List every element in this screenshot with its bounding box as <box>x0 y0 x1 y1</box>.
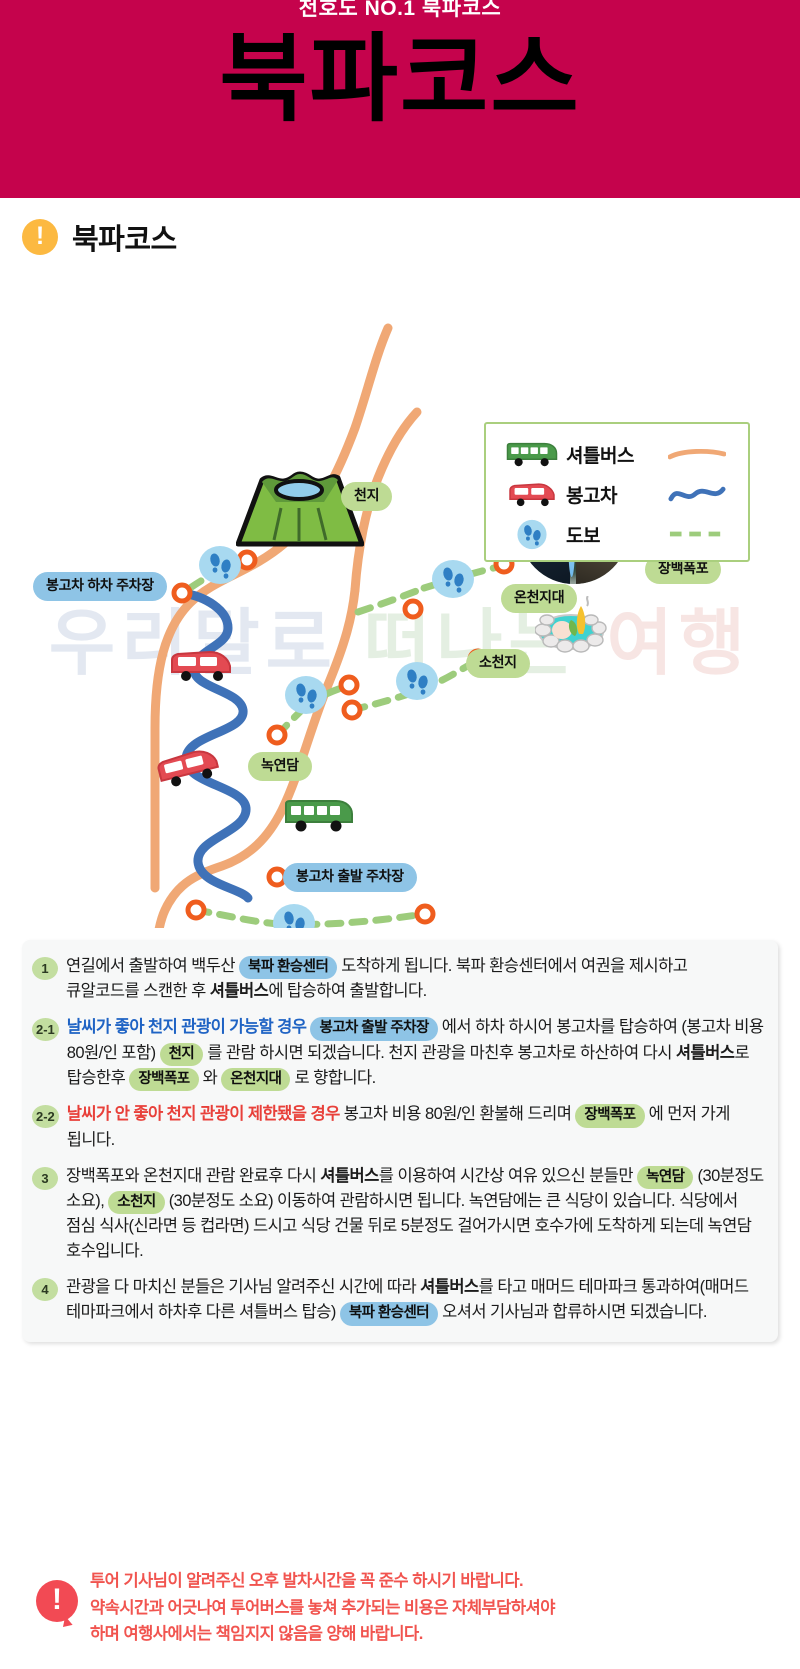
legend-label-van: 봉고차 <box>566 481 658 508</box>
walk-path-jihasamrim <box>196 910 280 924</box>
inline-emphasis: 셔틀버스 <box>676 1044 735 1062</box>
inline-tag: 소천지 <box>108 1191 164 1214</box>
step-text: 관광을 다 마치신 분들은 기사님 알려주신 시간에 따라 셔틀버스를 타고 매… <box>66 1275 764 1325</box>
step-text: 날씨가 좋아 천지 관광이 가능할 경우 봉고차 출발 주차장 에서 하차 하시… <box>67 1015 764 1091</box>
inline-emphasis: 셔틀버스 <box>210 982 269 1000</box>
exclamation-icon: ! <box>22 219 58 255</box>
inline-tag: 장백폭포 <box>575 1104 644 1127</box>
map-legend: 셔틀버스 봉고차 <box>484 422 750 562</box>
map-label-nokyeondam[interactable]: 녹연담 <box>248 752 312 781</box>
map-label-oncheon[interactable]: 온천지대 <box>501 584 577 613</box>
legend-label-shuttle: 셔틀버스 <box>566 441 658 468</box>
inline-tag: 천지 <box>160 1043 204 1066</box>
inline-emphasis: 날씨가 좋아 천지 관광이 가능할 경우 <box>67 1018 311 1036</box>
page-root: 천호도 NO.1 북파코스 북파코스 ! 북파코스 우리말로 떠나는 여행 <box>0 0 800 1669</box>
map-label-bonggo-dropoff[interactable]: 봉고차 하차 주차장 <box>33 572 167 601</box>
footprints-icon-3 <box>396 662 438 700</box>
warning-exclamation-icon: ! <box>36 1580 78 1622</box>
step-number: 1 <box>32 957 58 980</box>
steps-panel: 1 연길에서 출발하여 백두산 북파 환승센터 도착하게 됩니다. 북파 환승센… <box>22 940 778 1342</box>
warning-banner: ! 투어 기사님이 알려주신 오후 발차시간을 꼭 준수 하시기 바랍니다. 약… <box>22 1560 778 1648</box>
inline-emphasis: 날씨가 안 좋아 천지 관광이 제한됐을 경우 <box>67 1105 344 1123</box>
footprints-icon-4 <box>432 560 474 598</box>
inline-tag: 북파 환승센터 <box>239 956 337 979</box>
step-number: 3 <box>32 1167 58 1190</box>
van-icon <box>506 481 558 507</box>
footprints-icon-5 <box>273 904 315 928</box>
shuttle-bus-icon-map-1 <box>284 798 354 832</box>
section-heading: ! 북파코스 <box>22 216 177 258</box>
step-item: 3 장백폭포와 온천지대 관람 완료후 다시 셔틀버스를 이용하여 시간상 여유… <box>32 1164 764 1265</box>
inline-tag: 북파 환승센터 <box>340 1302 438 1325</box>
inline-tag: 녹연담 <box>637 1166 693 1189</box>
footprints-icon <box>506 519 558 550</box>
legend-row-walk: 도보 <box>486 514 748 554</box>
step-text: 연길에서 출발하여 백두산 북파 환승센터 도착하게 됩니다. 북파 환승센터에… <box>66 954 764 1004</box>
route-map-section: ! 북파코스 우리말로 떠나는 여행 <box>0 198 800 928</box>
warning-text: 투어 기사님이 알려주신 오후 발차시간을 꼭 준수 하시기 바랍니다. 약속시… <box>90 1560 555 1648</box>
footprints-icon-2 <box>285 676 327 714</box>
inline-emphasis: 셔틀버스 <box>420 1278 479 1296</box>
legend-sample-wavy-blue-line <box>666 483 728 505</box>
legend-row-van: 봉고차 <box>486 474 748 514</box>
map-label-socheonji[interactable]: 소천지 <box>466 649 530 678</box>
mountain-icon <box>236 470 364 548</box>
legend-label-walk: 도보 <box>566 521 658 548</box>
inline-tag: 봉고차 출발 주차장 <box>310 1017 437 1040</box>
page-header: 천호도 NO.1 북파코스 북파코스 <box>0 0 800 198</box>
step-number: 2-2 <box>32 1105 59 1128</box>
page-title: 북파코스 <box>0 30 800 131</box>
step-item: 1 연길에서 출발하여 백두산 북파 환승센터 도착하게 됩니다. 북파 환승센… <box>32 954 764 1004</box>
step-item: 2-1 날씨가 좋아 천지 관광이 가능할 경우 봉고차 출발 주차장 에서 하… <box>32 1015 764 1091</box>
step-number: 2-1 <box>32 1018 59 1041</box>
legend-sample-dashed-green-line <box>666 527 728 541</box>
map-label-bonggo-start[interactable]: 봉고차 출발 주차장 <box>283 863 417 892</box>
map-label-cheonji[interactable]: 천지 <box>341 482 392 511</box>
step-text: 날씨가 안 좋아 천지 관광이 제한됐을 경우 봉고차 비용 80원/인 환불해… <box>67 1102 764 1152</box>
inline-emphasis: 셔틀버스 <box>320 1167 379 1185</box>
step-text: 장백폭포와 온천지대 관람 완료후 다시 셔틀버스를 이용하여 시간상 여유 있… <box>66 1164 764 1265</box>
section-title: 북파코스 <box>72 216 177 258</box>
inline-tag: 장백폭포 <box>129 1068 198 1091</box>
step-number: 4 <box>32 1278 58 1301</box>
step-item: 2-2 날씨가 안 좋아 천지 관광이 제한됐을 경우 봉고차 비용 80원/인… <box>32 1102 764 1152</box>
warning-line: 약속시간과 어긋나여 투어버스를 놓쳐 추가되는 비용은 자체부담하셔야 <box>90 1595 555 1622</box>
legend-row-shuttle: 셔틀버스 <box>486 434 748 474</box>
footprints-icon-1 <box>199 546 241 584</box>
step-item: 4 관광을 다 마치신 분들은 기사님 알려주신 시간에 따라 셔틀버스를 타고… <box>32 1275 764 1325</box>
warning-line: 투어 기사님이 알려주신 오후 발차시간을 꼭 준수 하시기 바랍니다. <box>90 1568 555 1595</box>
legend-sample-solid-orange-line <box>666 447 728 461</box>
warning-line: 하며 여행사에서는 책임지지 않음을 양해 바랍니다. <box>90 1621 555 1648</box>
inline-tag: 온천지대 <box>221 1068 290 1091</box>
header-kicker: 천호도 NO.1 북파코스 <box>0 0 800 22</box>
van-icon-upper <box>168 648 234 682</box>
shuttle-bus-icon <box>506 441 558 467</box>
